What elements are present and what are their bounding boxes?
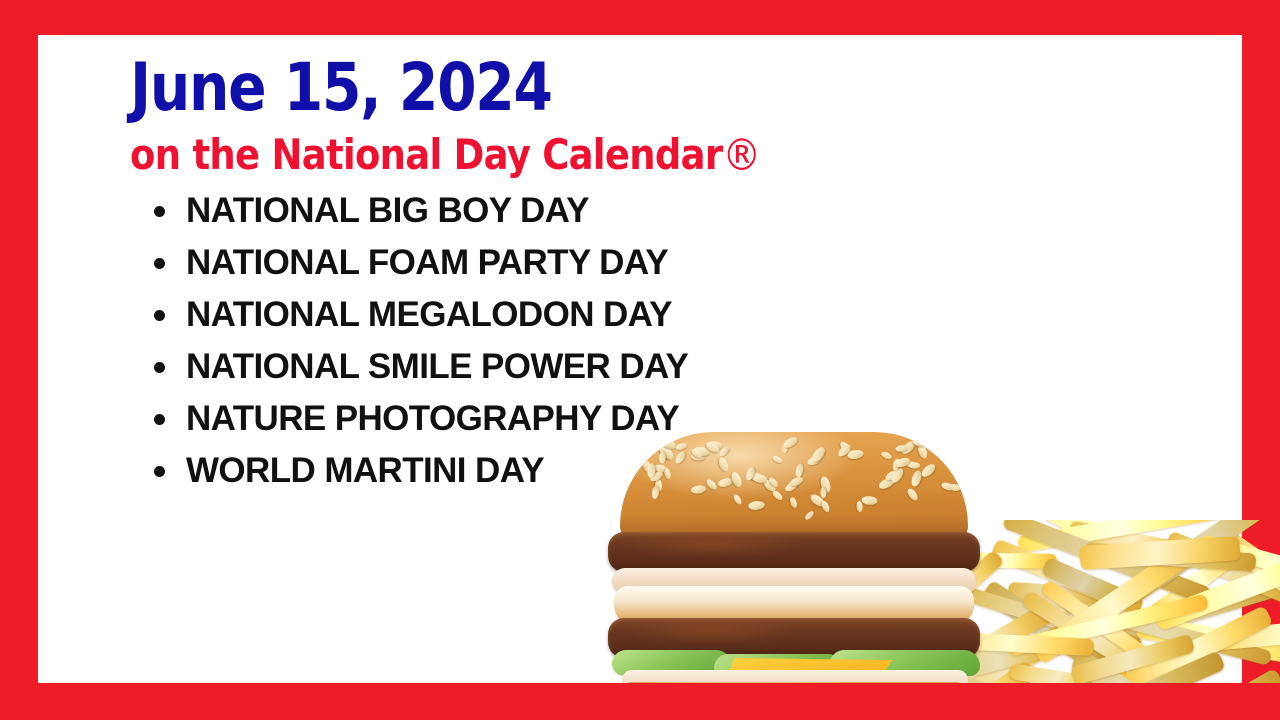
list-item: NATURE PHOTOGRAPHY DAY (148, 393, 1148, 445)
bullet-icon (154, 414, 165, 425)
poster-canvas: June 15, 2024 on the National Day Calend… (0, 0, 1280, 720)
list-item: NATIONAL FOAM PARTY DAY (148, 237, 1148, 289)
card-content: June 15, 2024 on the National Day Calend… (38, 35, 1242, 683)
bullet-icon (154, 310, 165, 321)
list-item: NATIONAL MEGALODON DAY (148, 289, 1148, 341)
list-item-label: WORLD MARTINI DAY (186, 451, 544, 490)
white-content-card: June 15, 2024 on the National Day Calend… (38, 35, 1242, 683)
list-item-label: NATIONAL FOAM PARTY DAY (186, 243, 668, 282)
subtitle: on the National Day Calendar® (130, 131, 761, 180)
subtitle-text: on the National Day Calendar (130, 130, 722, 179)
page-title: June 15, 2024 (130, 51, 552, 125)
red-border-right (1242, 0, 1280, 520)
list-item: WORLD MARTINI DAY (148, 445, 1148, 497)
list-item: NATIONAL BIG BOY DAY (148, 185, 1148, 237)
list-item-label: NATIONAL MEGALODON DAY (186, 295, 672, 334)
list-item-label: NATURE PHOTOGRAPHY DAY (186, 399, 679, 438)
bullet-icon (154, 258, 165, 269)
list-item-label: NATIONAL BIG BOY DAY (186, 191, 589, 230)
list-item-label: NATIONAL SMILE POWER DAY (186, 347, 688, 386)
red-border-bottom (0, 683, 1280, 720)
list-item: NATIONAL SMILE POWER DAY (148, 341, 1148, 393)
national-days-list: NATIONAL BIG BOY DAY NATIONAL FOAM PARTY… (148, 185, 1148, 497)
bullet-icon (154, 362, 165, 373)
registered-trademark-icon: ® (722, 130, 761, 181)
bullet-icon (154, 466, 165, 477)
bullet-icon (154, 206, 165, 217)
